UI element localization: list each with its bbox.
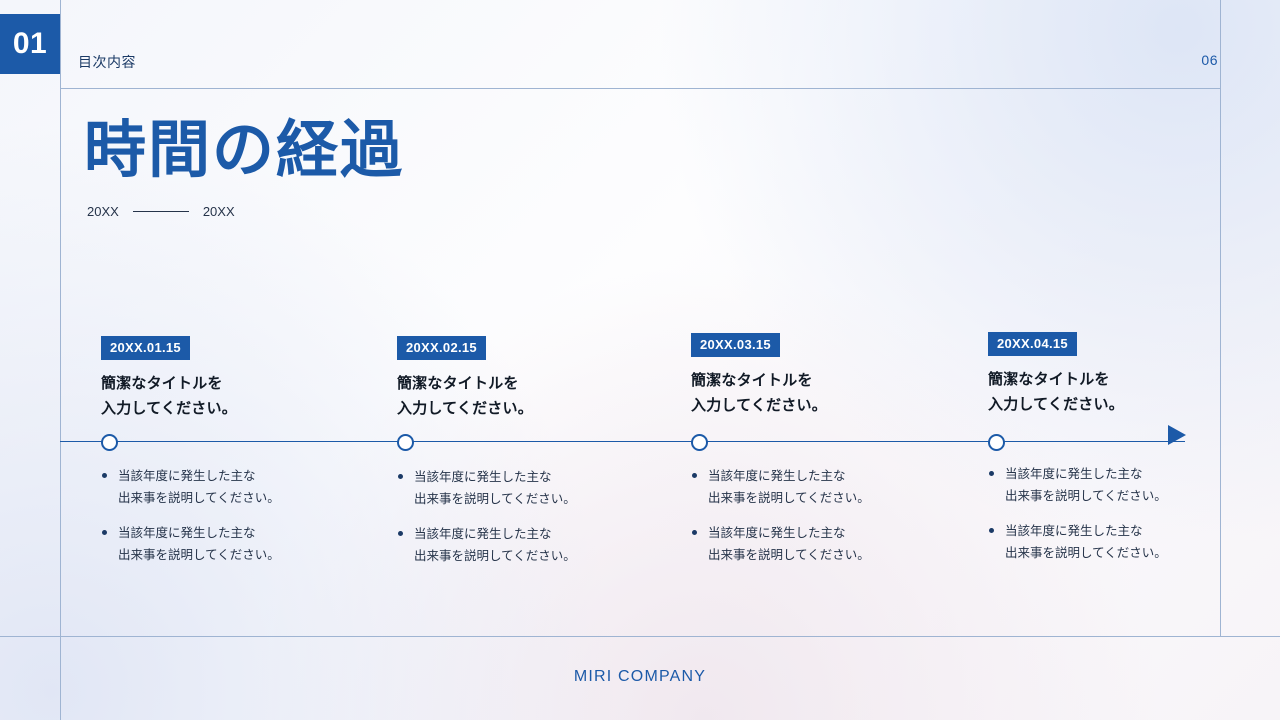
column-title-1-line2: 入力してください。 bbox=[101, 396, 351, 421]
year-range-dash bbox=[133, 211, 189, 212]
column-title-1-line1: 簡潔なタイトルを bbox=[101, 371, 351, 396]
section-number-badge: 01 bbox=[0, 14, 60, 74]
column-title-4-line2: 入力してください。 bbox=[988, 392, 1238, 417]
year-range: 20XX 20XX bbox=[87, 204, 235, 219]
header-divider bbox=[60, 88, 1220, 89]
timeline-axis bbox=[60, 441, 1185, 442]
column-title-4: 簡潔なタイトルを 入力してください。 bbox=[988, 367, 1238, 417]
timeline-bullets-3: 当該年度に発生した主な出来事を説明してください。 当該年度に発生した主な出来事を… bbox=[691, 466, 941, 580]
timeline-node-1 bbox=[101, 434, 118, 451]
list-item: 当該年度に発生した主な出来事を説明してください。 bbox=[988, 521, 1238, 564]
year-range-end: 20XX bbox=[203, 204, 235, 219]
timeline-node-3 bbox=[691, 434, 708, 451]
timeline-arrow-icon bbox=[1168, 425, 1186, 445]
column-title-2-line2: 入力してください。 bbox=[397, 396, 647, 421]
timeline-bullets-4: 当該年度に発生した主な出来事を説明してください。 当該年度に発生した主な出来事を… bbox=[988, 464, 1238, 578]
list-item: 当該年度に発生した主な出来事を説明してください。 bbox=[691, 523, 941, 566]
date-badge-4: 20XX.04.15 bbox=[988, 332, 1077, 356]
footer-company: MIRI COMPANY bbox=[0, 668, 1280, 686]
column-title-2-line1: 簡潔なタイトルを bbox=[397, 371, 647, 396]
timeline-column-2: 20XX.02.15 簡潔なタイトルを 入力してください。 bbox=[397, 336, 647, 421]
list-item: 当該年度に発生した主な出来事を説明してください。 bbox=[397, 467, 647, 510]
column-title-3: 簡潔なタイトルを 入力してください。 bbox=[691, 368, 941, 418]
column-title-1: 簡潔なタイトルを 入力してください。 bbox=[101, 371, 351, 421]
page-title: 時間の経過 bbox=[84, 117, 404, 185]
frame-line-left bbox=[60, 0, 61, 720]
date-badge-1: 20XX.01.15 bbox=[101, 336, 190, 360]
column-title-4-line1: 簡潔なタイトルを bbox=[988, 367, 1238, 392]
section-label: 目次内容 bbox=[78, 52, 136, 72]
list-item: 当該年度に発生した主な出来事を説明してください。 bbox=[101, 523, 351, 566]
column-title-2: 簡潔なタイトルを 入力してください。 bbox=[397, 371, 647, 421]
timeline-node-2 bbox=[397, 434, 414, 451]
timeline-column-3: 20XX.03.15 簡潔なタイトルを 入力してください。 bbox=[691, 333, 941, 418]
slide: 01 目次内容 06 時間の経過 20XX 20XX 20XX.01.15 簡潔… bbox=[0, 0, 1280, 720]
timeline-bullets-1: 当該年度に発生した主な出来事を説明してください。 当該年度に発生した主な出来事を… bbox=[101, 466, 351, 580]
frame-line-bottom bbox=[0, 636, 1280, 637]
timeline-column-1: 20XX.01.15 簡潔なタイトルを 入力してください。 bbox=[101, 336, 351, 421]
list-item: 当該年度に発生した主な出来事を説明してください。 bbox=[988, 464, 1238, 507]
column-title-3-line1: 簡潔なタイトルを bbox=[691, 368, 941, 393]
date-badge-3: 20XX.03.15 bbox=[691, 333, 780, 357]
year-range-start: 20XX bbox=[87, 204, 119, 219]
page-number: 06 bbox=[1201, 52, 1218, 68]
timeline-bullets-2: 当該年度に発生した主な出来事を説明してください。 当該年度に発生した主な出来事を… bbox=[397, 467, 647, 581]
list-item: 当該年度に発生した主な出来事を説明してください。 bbox=[691, 466, 941, 509]
timeline-node-4 bbox=[988, 434, 1005, 451]
list-item: 当該年度に発生した主な出来事を説明してください。 bbox=[101, 466, 351, 509]
timeline-column-4: 20XX.04.15 簡潔なタイトルを 入力してください。 bbox=[988, 332, 1238, 417]
column-title-3-line2: 入力してください。 bbox=[691, 393, 941, 418]
list-item: 当該年度に発生した主な出来事を説明してください。 bbox=[397, 524, 647, 567]
date-badge-2: 20XX.02.15 bbox=[397, 336, 486, 360]
